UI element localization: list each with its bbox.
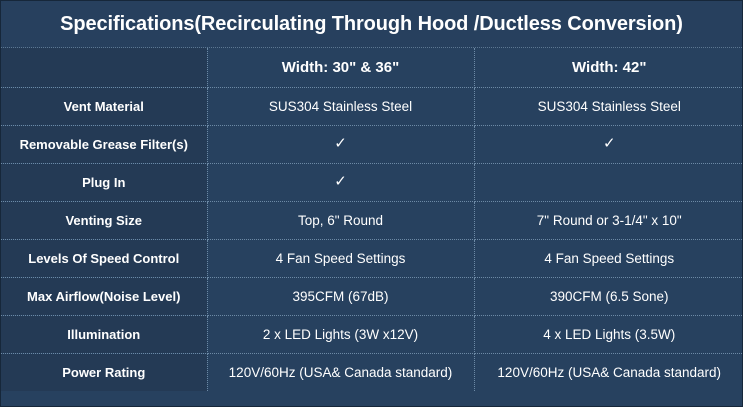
table-row: Max Airflow(Noise Level)395CFM (67dB)390… — [1, 278, 743, 316]
check-icon-glyph: ✓ — [334, 174, 347, 189]
empty-value — [609, 186, 610, 187]
table-row: Levels Of Speed Control4 Fan Speed Setti… — [1, 240, 743, 278]
row-label: Plug In — [1, 164, 207, 202]
value-cell-width-42: 390CFM (6.5 Sone) — [474, 278, 743, 316]
value-cell-width-30-36: 395CFM (67dB) — [207, 278, 474, 316]
specifications-panel: Specifications(Recirculating Through Hoo… — [0, 0, 743, 407]
value-cell-width-30-36: Top, 6" Round — [207, 202, 474, 240]
value-cell-width-30-36: 4 Fan Speed Settings — [207, 240, 474, 278]
table-row: Removable Grease Filter(s)✓✓ — [1, 126, 743, 164]
value-cell-width-42: 120V/60Hz (USA& Canada standard) — [474, 354, 743, 392]
check-icon: ✓ — [474, 126, 743, 164]
header-row: Width: 30" & 36" Width: 42" — [1, 48, 743, 88]
table-row: Illumination2 x LED Lights (3W x12V)4 x … — [1, 316, 743, 354]
row-label: Vent Material — [1, 88, 207, 126]
value-cell-width-42: 7" Round or 3-1/4" x 10" — [474, 202, 743, 240]
row-label: Max Airflow(Noise Level) — [1, 278, 207, 316]
table-row: Plug In✓ — [1, 164, 743, 202]
table-row: Vent MaterialSUS304 Stainless SteelSUS30… — [1, 88, 743, 126]
check-icon-glyph: ✓ — [603, 136, 616, 151]
row-label: Venting Size — [1, 202, 207, 240]
page-title: Specifications(Recirculating Through Hoo… — [1, 1, 742, 48]
value-cell-width-42: 4 Fan Speed Settings — [474, 240, 743, 278]
row-label: Illumination — [1, 316, 207, 354]
value-cell-width-30-36: SUS304 Stainless Steel — [207, 88, 474, 126]
column-header-width-42: Width: 42" — [474, 48, 743, 88]
check-icon: ✓ — [207, 164, 474, 202]
value-cell-width-30-36: 120V/60Hz (USA& Canada standard) — [207, 354, 474, 392]
value-cell-width-42-empty — [474, 164, 743, 202]
column-header-width-30-36: Width: 30" & 36" — [207, 48, 474, 88]
specifications-table: Width: 30" & 36" Width: 42" Vent Materia… — [1, 48, 743, 391]
row-label: Removable Grease Filter(s) — [1, 126, 207, 164]
row-label: Levels Of Speed Control — [1, 240, 207, 278]
value-cell-width-42: SUS304 Stainless Steel — [474, 88, 743, 126]
table-header: Width: 30" & 36" Width: 42" — [1, 48, 743, 88]
row-label: Power Rating — [1, 354, 207, 392]
table-row: Power Rating120V/60Hz (USA& Canada stand… — [1, 354, 743, 392]
table-body: Vent MaterialSUS304 Stainless SteelSUS30… — [1, 88, 743, 392]
value-cell-width-42: 4 x LED Lights (3.5W) — [474, 316, 743, 354]
value-cell-width-30-36: 2 x LED Lights (3W x12V) — [207, 316, 474, 354]
table-row: Venting SizeTop, 6" Round7" Round or 3-1… — [1, 202, 743, 240]
column-header-spec-name — [1, 48, 207, 88]
check-icon: ✓ — [207, 126, 474, 164]
check-icon-glyph: ✓ — [334, 136, 347, 151]
